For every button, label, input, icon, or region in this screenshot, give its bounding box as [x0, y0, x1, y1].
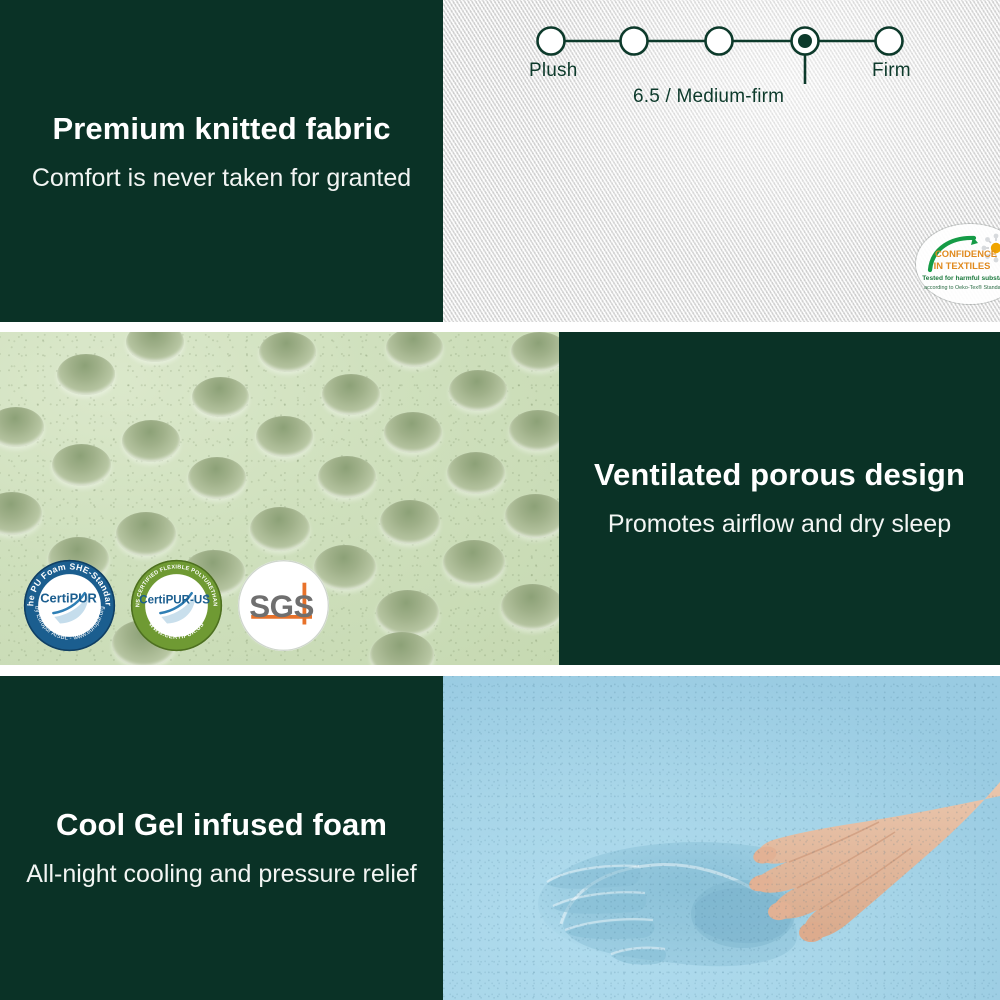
- perforated-foam-photo: The PU Foam SHE-Standard by Europur AISB…: [0, 332, 559, 665]
- firmness-step-5: [876, 28, 903, 55]
- ventilated-subline: Promotes airflow and dry sleep: [559, 508, 1000, 541]
- coolgel-copy: Cool Gel infused foam All-night cooling …: [0, 806, 443, 890]
- coolgel-subline: All-night cooling and pressure relief: [0, 858, 443, 891]
- fabric-subline: Comfort is never taken for granted: [0, 162, 443, 195]
- ventilated-headline: Ventilated porous design: [559, 456, 1000, 495]
- divider-row1-row2: [0, 322, 1000, 332]
- sgs-name: SGS: [249, 589, 314, 624]
- oeko-tex-line4: according to Oeko-Tex® Standard 100: [924, 284, 1000, 291]
- fabric-text-panel: Premium knitted fabric Comfort is never …: [0, 0, 443, 322]
- ventilated-copy: Ventilated porous design Promotes airflo…: [559, 456, 1000, 540]
- gel-grain-texture: [443, 676, 1000, 1000]
- firmness-scale[interactable]: Plush Firm 6.5 / Medium-firm: [443, 0, 1000, 130]
- coolgel-text-panel: Cool Gel infused foam All-night cooling …: [0, 676, 443, 1000]
- firmness-label-rating: 6.5 / Medium-firm: [633, 86, 784, 108]
- certipur-us-trademark: ®: [205, 593, 209, 600]
- fabric-copy: Premium knitted fabric Comfort is never …: [0, 110, 443, 194]
- sgs-icon: SGS: [236, 558, 331, 653]
- firmness-label-plush: Plush: [529, 60, 578, 82]
- oeko-tex-certification-badge: CONFIDENCE IN TEXTILES Tested for harmfu…: [916, 224, 1000, 304]
- firmness-step-2: [621, 28, 648, 55]
- sgs-badge: SGS: [236, 558, 331, 653]
- firmness-step-3: [706, 28, 733, 55]
- coolgel-headline: Cool Gel infused foam: [0, 806, 443, 845]
- panel-cool-gel-infused-foam: Cool Gel infused foam All-night cooling …: [0, 676, 1000, 1000]
- knitted-fabric-photo: Plush Firm 6.5 / Medium-firm: [443, 0, 1000, 322]
- panel-ventilated-porous-design: The PU Foam SHE-Standard by Europur AISB…: [0, 332, 1000, 665]
- certipur-badge: The PU Foam SHE-Standard by Europur AISB…: [22, 558, 117, 653]
- firmness-step-1: [538, 28, 565, 55]
- oeko-tex-icon: CONFIDENCE IN TEXTILES Tested for harmfu…: [916, 224, 1000, 304]
- divider-row2-row3: [0, 665, 1000, 676]
- oeko-tex-line1: CONFIDENCE: [935, 248, 997, 259]
- product-feature-collage: Premium knitted fabric Comfort is never …: [0, 0, 1000, 1000]
- certipur-us-badge: CONTAINS CERTIFIED FLEXIBLE POLYURETHANE…: [129, 558, 224, 653]
- gel-foam-hand-photo: [443, 676, 1000, 1000]
- certipur-us-name: CertiPUR-US: [139, 595, 210, 607]
- certipur-trademark: ™: [98, 593, 104, 599]
- oeko-tex-line2: IN TEXTILES: [934, 260, 991, 271]
- certipur-name: CertiPUR: [40, 591, 97, 606]
- ventilated-text-panel: Ventilated porous design Promotes airflo…: [559, 332, 1000, 665]
- certipur-icon: The PU Foam SHE-Standard by Europur AISB…: [22, 558, 117, 653]
- panel-premium-knitted-fabric: Premium knitted fabric Comfort is never …: [0, 0, 1000, 322]
- fabric-headline: Premium knitted fabric: [0, 110, 443, 149]
- oeko-tex-line3: Tested for harmful substances: [922, 275, 1000, 282]
- certipur-us-icon: CONTAINS CERTIFIED FLEXIBLE POLYURETHANE…: [129, 558, 224, 653]
- firmness-scale-graphic: [443, 0, 1000, 130]
- foam-certification-badges: The PU Foam SHE-Standard by Europur AISB…: [22, 558, 331, 653]
- firmness-label-firm: Firm: [872, 60, 911, 82]
- firmness-step-4-selected: [798, 34, 812, 48]
